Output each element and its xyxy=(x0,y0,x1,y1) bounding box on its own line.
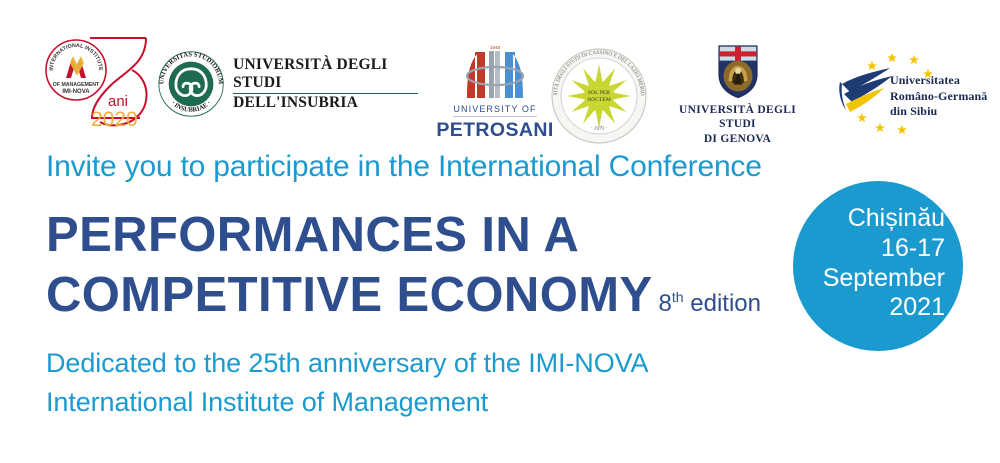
imi-nova-logo: INTERNATIONAL INSTITUTE OF MANAGEMENT IM… xyxy=(28,30,158,138)
dedication-line-1: Dedicated to the 25th anniversary of the… xyxy=(46,344,648,383)
sibiu-line1: Universitatea xyxy=(890,73,960,87)
petrosani-line1: UNIVERSITY OF xyxy=(453,104,536,117)
universita-cassino-logo: SOL PER NOCTEM UNIVERSITÀ DEGLI STUDI DI… xyxy=(551,48,647,144)
genova-line1: UNIVERSITÀ DEGLI STUDI xyxy=(679,104,796,130)
title-line-2-row: COMPETITIVE ECONOMY8th edition xyxy=(46,266,761,326)
insubria-line1: UNIVERSITÀ DEGLI STUDI xyxy=(233,56,418,95)
date-location-badge: Chișinău 16-17 September 2021 xyxy=(793,181,963,351)
petrosani-year-mark: 1948 xyxy=(490,45,501,50)
edition-ordinal: th xyxy=(672,289,684,305)
dedication-line-2: International Institute of Management xyxy=(46,383,648,422)
genova-line2: DI GENOVA xyxy=(704,133,771,145)
cassino-seal-icon: SOL PER NOCTEM UNIVERSITÀ DEGLI STUDI DI… xyxy=(551,48,647,144)
invite-line: Invite you to participate in the Interna… xyxy=(46,150,762,184)
partner-logos-strip: INTERNATIONAL INSTITUTE OF MANAGEMENT IM… xyxy=(0,22,1000,142)
dedication-text: Dedicated to the 25th anniversary of the… xyxy=(46,344,648,423)
conference-title: PERFORMANCES IN A COMPETITIVE ECONOMY8th… xyxy=(46,206,761,326)
title-line-1: PERFORMANCES IN A xyxy=(46,206,761,266)
imi-anniversary-year: 2020 xyxy=(91,108,138,131)
genova-shield-icon xyxy=(707,42,769,100)
universita-insubria-logo: UNIVERSITAS STUDIORUM · INSUBRIAE · UNIV… xyxy=(158,44,418,124)
badge-days: 16-17 xyxy=(803,234,945,264)
genova-wordmark: UNIVERSITÀ DEGLI STUDI DI GENOVA xyxy=(660,103,815,146)
sibiu-wordmark: Universitatea Româno-Germană din Sibiu xyxy=(890,73,987,120)
universita-genova-logo: UNIVERSITÀ DEGLI STUDI DI GENOVA xyxy=(660,42,815,146)
badge-month: September xyxy=(803,264,945,294)
conference-banner: INTERNATIONAL INSTITUTE OF MANAGEMENT IM… xyxy=(0,0,1000,463)
petrosani-line2: PETROSANI xyxy=(436,119,553,142)
petrosani-column-icon: 1948 xyxy=(449,42,541,102)
imi-nova-logo-graphic: INTERNATIONAL INSTITUTE OF MANAGEMENT IM… xyxy=(28,30,158,138)
badge-year: 2021 xyxy=(803,293,945,323)
university-of-petrosani-logo: 1948 UNIVERSITY OF PETROSANI xyxy=(440,42,550,142)
imi-seal-bottom-text: OF MANAGEMENT xyxy=(53,82,100,88)
cassino-motto-line2: NOCTEM xyxy=(587,97,611,103)
edition-word: edition xyxy=(690,290,761,317)
cassino-motto-line1: SOL PER xyxy=(588,90,610,96)
insubria-line2: DELL'INSUBRIA xyxy=(233,94,358,111)
title-line-2: COMPETITIVE ECONOMY xyxy=(46,268,653,322)
universitatea-romano-germana-sibiu-logo: Universitatea Româno-Germană din Sibiu xyxy=(828,46,993,146)
insubria-seal-icon: UNIVERSITAS STUDIORUM · INSUBRIAE · xyxy=(158,47,224,121)
edition-number: 8 xyxy=(659,290,672,317)
insubria-wordmark: UNIVERSITÀ DEGLI STUDI DELL'INSUBRIA xyxy=(233,56,418,113)
badge-city: Chișinău xyxy=(803,204,945,234)
sibiu-line3: din Sibiu xyxy=(890,104,937,118)
edition-label: 8th edition xyxy=(659,290,761,317)
imi-seal-sub-text: IMI-NOVA xyxy=(62,89,90,95)
svg-text:· 1979 ·: · 1979 · xyxy=(590,125,608,132)
sibiu-line2: Româno-Germană xyxy=(890,89,987,103)
